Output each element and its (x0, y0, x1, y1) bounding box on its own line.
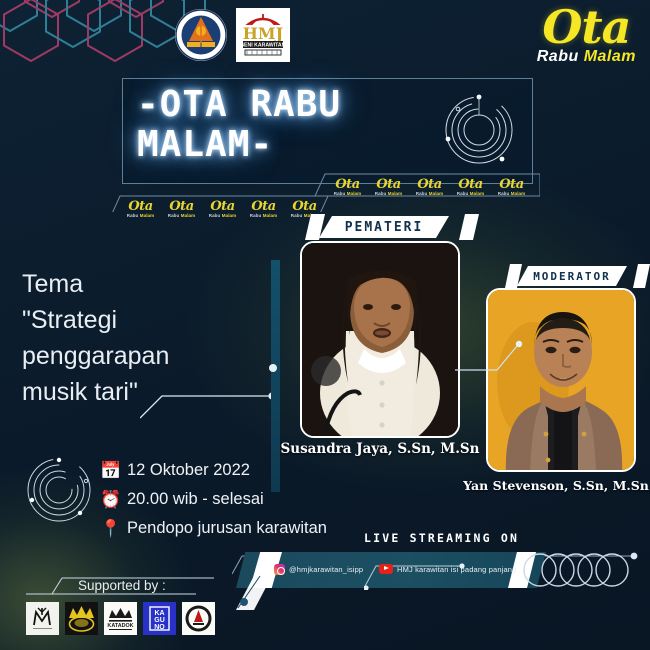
ota-mini-subtitle: Rabu Malam (450, 192, 491, 197)
location-pin-icon: 📍 (100, 520, 127, 537)
theme-line-1: "Strategi (22, 302, 267, 338)
title-panel: -OTA RABU MALAM- (122, 78, 533, 184)
ota-mini-wordmark: Ota (368, 178, 409, 191)
instagram-channel[interactable]: @hmjkarawitan_isipp (274, 564, 363, 575)
page-title: -OTA RABU MALAM- (137, 85, 437, 165)
pemateri-role-banner: PEMATERI (319, 216, 449, 238)
sponsor-logo-katadok: KATADOK (104, 602, 137, 635)
svg-text:NO: NO (154, 624, 165, 631)
event-row-location: 📍 Pendopo jurusan karawitan (100, 514, 327, 543)
live-streaming-band: @hmjkarawitan_isipp HMJ karawitan isi pa… (236, 548, 634, 590)
moderator-role-banner: MODERATOR (517, 266, 627, 286)
pemateri-photo (300, 241, 460, 438)
orbit-circles-icon (436, 87, 522, 173)
hmj-seni-karawitan-logo: HMJ SENI KARAWITAN (236, 8, 290, 62)
spiral-orbit-decoration (24, 455, 94, 525)
hexagon-decoration (0, 0, 162, 78)
brand-sub-rabu: Rabu (537, 48, 579, 65)
event-date-text: 12 Oktober 2022 (127, 461, 250, 480)
svg-text:KATADOK: KATADOK (107, 623, 133, 629)
brand-wordmark: Ota (537, 6, 636, 50)
ota-mini-wordmark: Ota (284, 200, 325, 213)
ota-mini-stamp: OtaRabu Malam (243, 200, 284, 219)
sponsor-logo-kaguno: KA GU NO (143, 602, 176, 635)
theme-line-3: musik tari" (22, 374, 267, 410)
ota-mini-stamp: OtaRabu Malam (202, 200, 243, 219)
brand-subtitle: Rabu Malam (537, 48, 636, 66)
moderator-name: Yan Stevenson, S.Sn, M.Sn (462, 478, 650, 493)
overlapping-rings-decoration (520, 550, 632, 590)
ota-mini-subtitle: Rabu Malam (491, 192, 532, 197)
ota-mini-stamp: OtaRabu Malam (409, 178, 450, 197)
event-location-text: Pendopo jurusan karawitan (127, 519, 327, 538)
event-row-time: ⏰ 20.00 wib - selesai (100, 485, 327, 514)
ota-mini-stamp: OtaRabu Malam (450, 178, 491, 197)
pemateri-role-label: PEMATERI (345, 220, 424, 235)
ota-mini-wordmark: Ota (409, 178, 450, 191)
ota-mini-stamp: OtaRabu Malam (491, 178, 532, 197)
ota-mini-wordmark: Ota (161, 200, 202, 213)
isi-padangpanjang-logo (175, 9, 227, 61)
pemateri-name: Susandra Jaya, S.Sn, M.Sn (272, 441, 488, 457)
calendar-icon: 📅 (100, 462, 127, 479)
supported-by-label: Supported by : (78, 578, 166, 593)
ota-mini-subtitle: Rabu Malam (368, 192, 409, 197)
ota-mini-stamp: OtaRabu Malam (327, 178, 368, 197)
brand-sub-malam: Malam (584, 48, 636, 65)
event-time-text: 20.00 wib - selesai (127, 490, 264, 509)
ota-mini-wordmark: Ota (243, 200, 284, 213)
youtube-icon (379, 564, 393, 574)
live-streaming-heading: LIVE STREAMING ON (364, 531, 519, 545)
sponsor-logo-circle-emblem (182, 602, 215, 635)
title-line-1: -OTA RABU (137, 85, 437, 125)
theme-label: Tema (22, 266, 267, 302)
instagram-icon (274, 564, 285, 575)
ota-mini-wordmark: Ota (120, 200, 161, 213)
ota-mini-wordmark: Ota (450, 178, 491, 191)
theme-line-2: penggarapan (22, 338, 267, 374)
sponsor-logo-ma (26, 602, 59, 635)
svg-text:KA: KA (154, 610, 164, 617)
ota-mini-stamp: OtaRabu Malam (284, 200, 325, 219)
supported-by-section: Supported by : (18, 578, 248, 598)
youtube-handle: HMJ karawitan isi padang panjang (397, 565, 516, 574)
institution-logos: HMJ SENI KARAWITAN (175, 8, 290, 62)
svg-text:HMJ: HMJ (243, 24, 283, 43)
moderator-role-label: MODERATOR (533, 270, 611, 283)
instagram-handle: @hmjkarawitan_isipp (289, 565, 363, 574)
ota-mini-subtitle: Rabu Malam (161, 214, 202, 219)
ota-mini-subtitle: Rabu Malam (202, 214, 243, 219)
ota-mini-stamp: OtaRabu Malam (368, 178, 409, 197)
ota-mini-stamp: OtaRabu Malam (161, 200, 202, 219)
title-line-2: MALAM- (137, 125, 437, 165)
ota-mini-subtitle: Rabu Malam (120, 214, 161, 219)
moderator-photo (486, 288, 636, 472)
ota-mini-stamp: OtaRabu Malam (120, 200, 161, 219)
event-details: 📅 12 Oktober 2022 ⏰ 20.00 wib - selesai … (100, 456, 327, 543)
ota-rabu-malam-brand: Ota Rabu Malam (537, 6, 636, 66)
ota-mini-subtitle: Rabu Malam (327, 192, 368, 197)
sponsor-logo-crown-gold (65, 602, 98, 635)
sponsor-logos: KATADOK KA GU NO (26, 602, 215, 635)
alarm-clock-icon: ⏰ (100, 491, 127, 508)
event-poster: HMJ SENI KARAWITAN Ota Rabu Malam -OTA R… (0, 0, 650, 650)
supported-by-header: Supported by : (18, 578, 248, 598)
ota-mini-subtitle: Rabu Malam (409, 192, 450, 197)
ota-mini-subtitle: Rabu Malam (284, 214, 325, 219)
ota-mini-wordmark: Ota (491, 178, 532, 191)
theme-text: Tema "Strategi penggarapan musik tari" (22, 266, 267, 410)
ota-stamp-strip-top: OtaRabu MalamOtaRabu MalamOtaRabu MalamO… (327, 174, 533, 200)
ota-mini-wordmark: Ota (202, 200, 243, 213)
ota-stamp-strip-bottom: OtaRabu MalamOtaRabu MalamOtaRabu MalamO… (120, 196, 326, 222)
event-row-date: 📅 12 Oktober 2022 (100, 456, 327, 485)
youtube-channel[interactable]: HMJ karawitan isi padang panjang (379, 564, 516, 574)
ota-mini-subtitle: Rabu Malam (243, 214, 284, 219)
svg-text:SENI KARAWITAN: SENI KARAWITAN (241, 43, 286, 49)
ota-mini-wordmark: Ota (327, 178, 368, 191)
svg-text:GU: GU (154, 617, 165, 624)
